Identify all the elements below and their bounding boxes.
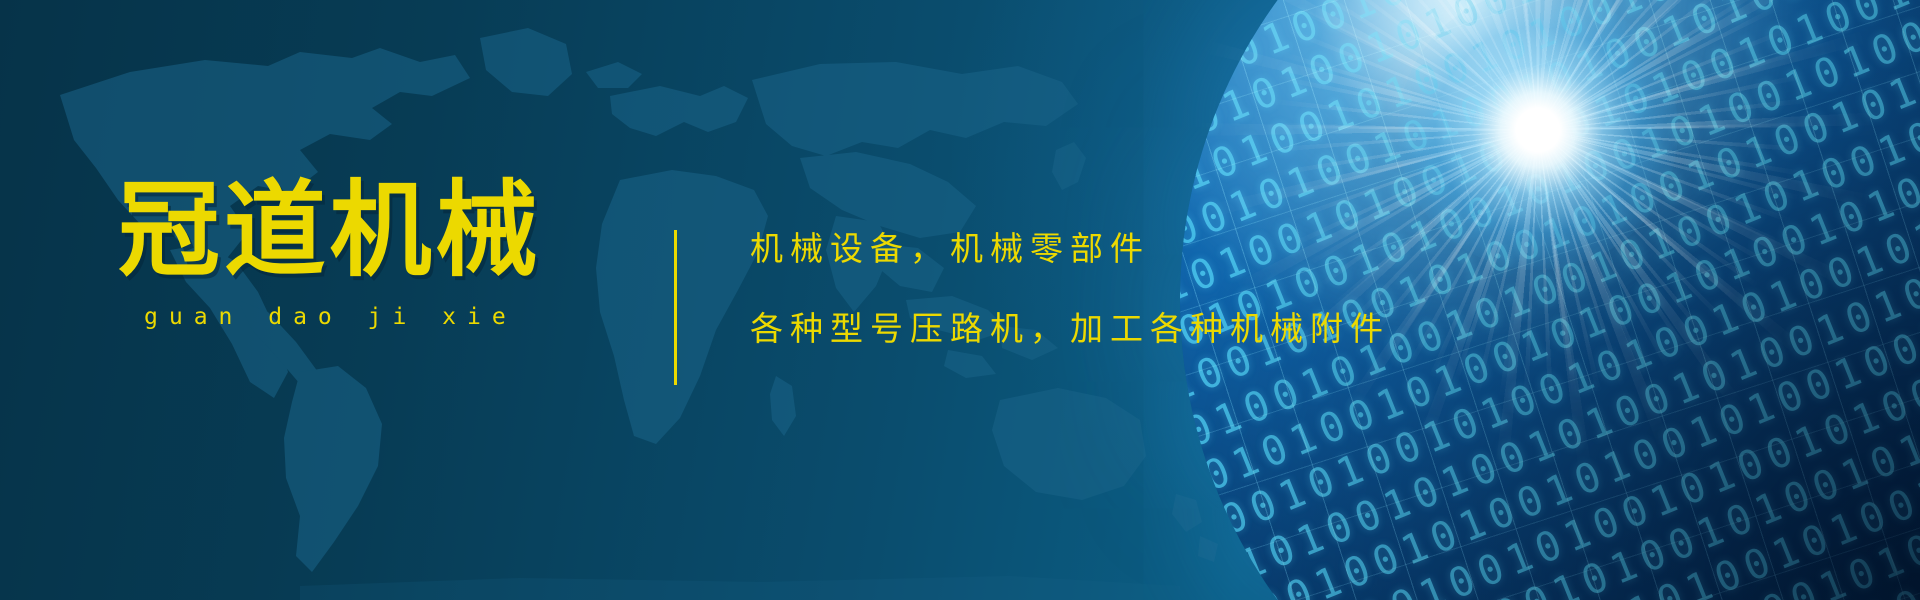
- hero-banner: 1001010010100101001010010100101001010010…: [0, 0, 1920, 600]
- banner-content: 冠道机械 guan dao ji xie 机械设备，机械零部件 各种型号压路机，…: [0, 0, 1920, 600]
- logo-block: 冠道机械 guan dao ji xie: [118, 178, 548, 330]
- tagline-list: 机械设备，机械零部件 各种型号压路机，加工各种机械附件: [750, 232, 1390, 345]
- tagline-line-2: 各种型号压路机，加工各种机械附件: [750, 312, 1390, 345]
- vertical-divider: [674, 230, 677, 385]
- tagline-line-1: 机械设备，机械零部件: [750, 232, 1390, 265]
- logo-pinyin: guan dao ji xie: [118, 304, 548, 330]
- logo-chinese-name: 冠道机械: [118, 178, 539, 282]
